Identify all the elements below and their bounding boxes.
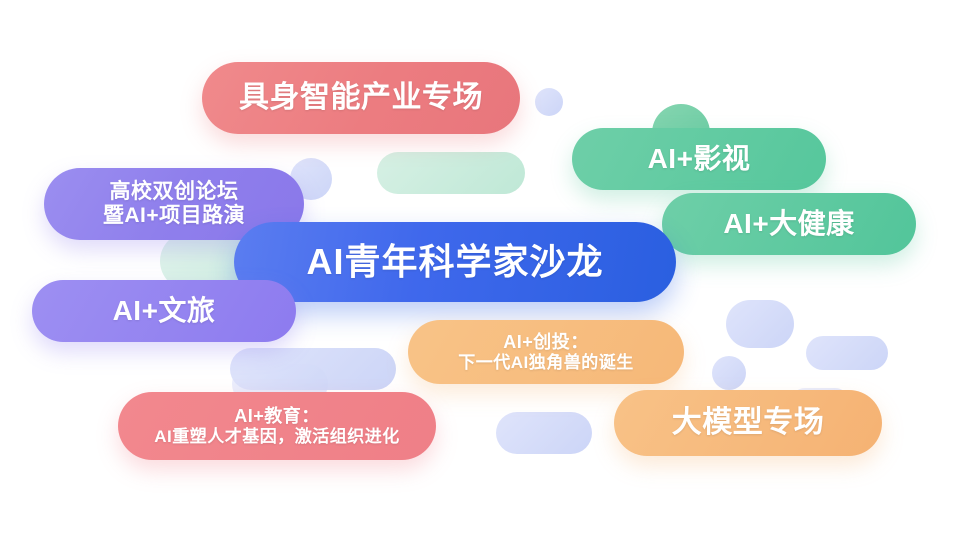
agenda-topic-cloud: 具身智能产业专场 AI+影视 AI+大健康 高校双创论坛 暨AI+项目路演 AI… [0, 0, 960, 540]
topic-label-line1: AI+教育： [234, 406, 320, 427]
topic-label-line1: AI+大健康 [723, 208, 854, 240]
decor-circle-lavender-right-small [712, 356, 746, 390]
topic-label-line1: AI+影视 [648, 143, 751, 175]
topic-label-line1: 大模型专场 [672, 406, 825, 441]
decor-pill-lavender-right-mid [806, 336, 888, 370]
topic-pill-ai-health[interactable]: AI+大健康 [662, 193, 916, 255]
topic-pill-embodied-intelligence[interactable]: 具身智能产业专场 [202, 62, 520, 134]
decor-pill-lavender-right-upper [726, 300, 794, 348]
main-topic-label: AI青年科学家沙龙 [306, 241, 603, 282]
topic-pill-ai-film[interactable]: AI+影视 [572, 128, 826, 190]
topic-pill-ai-culture-tourism[interactable]: AI+文旅 [32, 280, 296, 342]
decor-circle-lavender-small-top [535, 88, 563, 116]
topic-pill-ai-venture-capital[interactable]: AI+创投： 下一代AI独角兽的诞生 [408, 320, 684, 384]
decor-pill-lavender-below-main [230, 348, 396, 390]
decor-pill-mint-center-top [377, 152, 525, 194]
topic-pill-large-model[interactable]: 大模型专场 [614, 390, 882, 456]
decor-pill-lavender-bottom-center [496, 412, 592, 454]
topic-label-line1: 具身智能产业专场 [239, 81, 483, 116]
topic-label-line1: AI+文旅 [113, 295, 216, 327]
topic-label-line1: AI+创投： [503, 332, 589, 353]
topic-label-line2: 下一代AI独角兽的诞生 [458, 353, 634, 373]
topic-label-line2: AI重塑人才基因，激活组织进化 [154, 427, 400, 447]
topic-label-line1: 高校双创论坛 [110, 180, 239, 204]
topic-pill-main-ai-young-scientist-salon[interactable]: AI青年科学家沙龙 [234, 222, 676, 302]
topic-label-line2: 暨AI+项目路演 [103, 204, 245, 228]
topic-pill-ai-education[interactable]: AI+教育： AI重塑人才基因，激活组织进化 [118, 392, 436, 460]
